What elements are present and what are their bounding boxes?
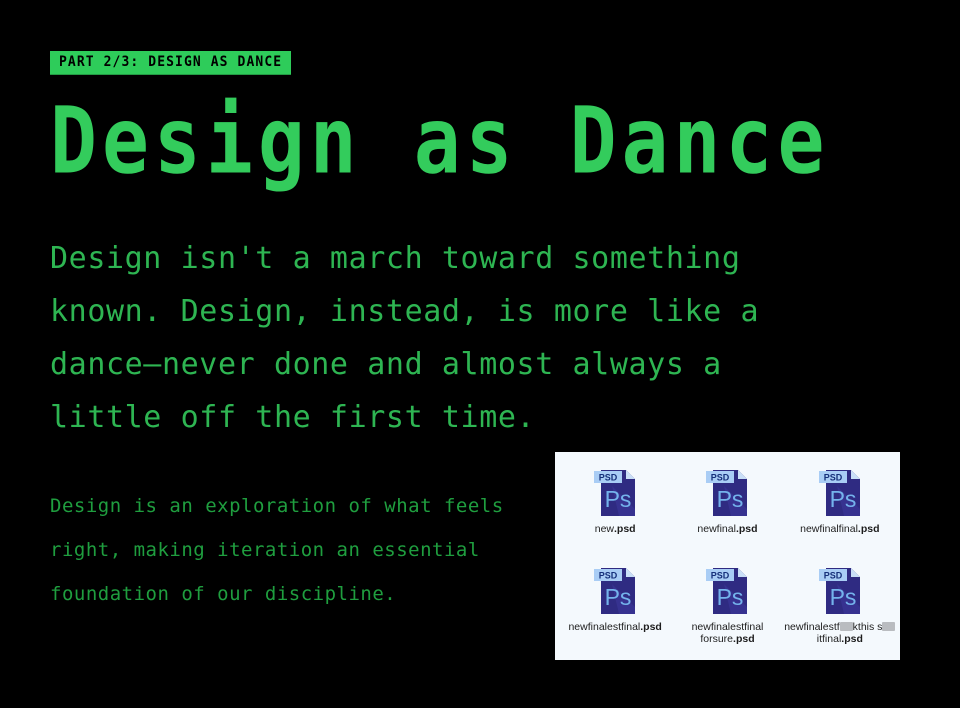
psd-file-icon: PSDPs [704,464,750,520]
svg-text:Ps: Ps [717,486,744,512]
psd-file-extension: .psd [858,523,880,535]
psd-file-icon: PSDPs [817,464,863,520]
part-label-badge: PART 2/3: DESIGN AS DANCE [50,51,291,75]
psd-file-item[interactable]: PSDPsnewfinalestfinal forsure.psd [671,558,783,656]
psd-file-icon: PSDPs [704,562,750,618]
eyebrow-badge-container: PART 2/3: DESIGN AS DANCE [50,50,291,73]
psd-file-item[interactable]: PSDPsnewfinalfinal.psd [784,460,896,558]
svg-text:PSD: PSD [824,571,843,581]
psd-file-label: newfinalfinal.psd [800,523,879,535]
svg-text:Ps: Ps [605,584,632,610]
svg-text:Ps: Ps [829,584,856,610]
psd-file-item[interactable]: PSDPsnew.psd [559,460,671,558]
psd-file-label: newfinalestfkthis sitfinal.psd [784,621,896,645]
slide-root: PART 2/3: DESIGN AS DANCE Design as Danc… [0,0,960,708]
svg-text:Ps: Ps [717,584,744,610]
psd-file-icon: PSDPs [817,562,863,618]
svg-text:Ps: Ps [605,486,632,512]
psd-file-extension: .psd [733,633,755,645]
psd-file-extension: .psd [736,523,758,535]
lead-paragraph: Design isn't a march toward something kn… [50,232,830,444]
censored-text-block [882,622,895,631]
psd-file-item[interactable]: PSDPsnewfinal.psd [671,460,783,558]
svg-text:Ps: Ps [829,486,856,512]
psd-file-icon: PSDPs [592,464,638,520]
psd-file-label: newfinalestfinal.psd [568,621,661,633]
page-title: Design as Dance [50,96,829,188]
psd-file-label: newfinal.psd [697,523,757,535]
censored-text-block [840,622,853,631]
body-paragraph: Design is an exploration of what feels r… [50,484,520,616]
svg-text:PSD: PSD [711,571,730,581]
svg-text:PSD: PSD [711,473,730,483]
svg-text:PSD: PSD [824,473,843,483]
psd-file-extension: .psd [614,523,636,535]
psd-files-image-panel: PSDPsnew.psdPSDPsnewfinal.psdPSDPsnewfin… [555,452,900,660]
psd-file-label: newfinalestfinal forsure.psd [671,621,783,645]
psd-file-extension: .psd [640,621,662,633]
psd-file-icon: PSDPs [592,562,638,618]
svg-text:PSD: PSD [599,473,618,483]
psd-icon-grid: PSDPsnew.psdPSDPsnewfinal.psdPSDPsnewfin… [555,452,900,660]
psd-file-item[interactable]: PSDPsnewfinalestfinal.psd [559,558,671,656]
psd-file-label: new.psd [595,523,636,535]
psd-file-extension: .psd [841,633,863,645]
svg-text:PSD: PSD [599,571,618,581]
psd-file-item[interactable]: PSDPsnewfinalestfkthis sitfinal.psd [784,558,896,656]
